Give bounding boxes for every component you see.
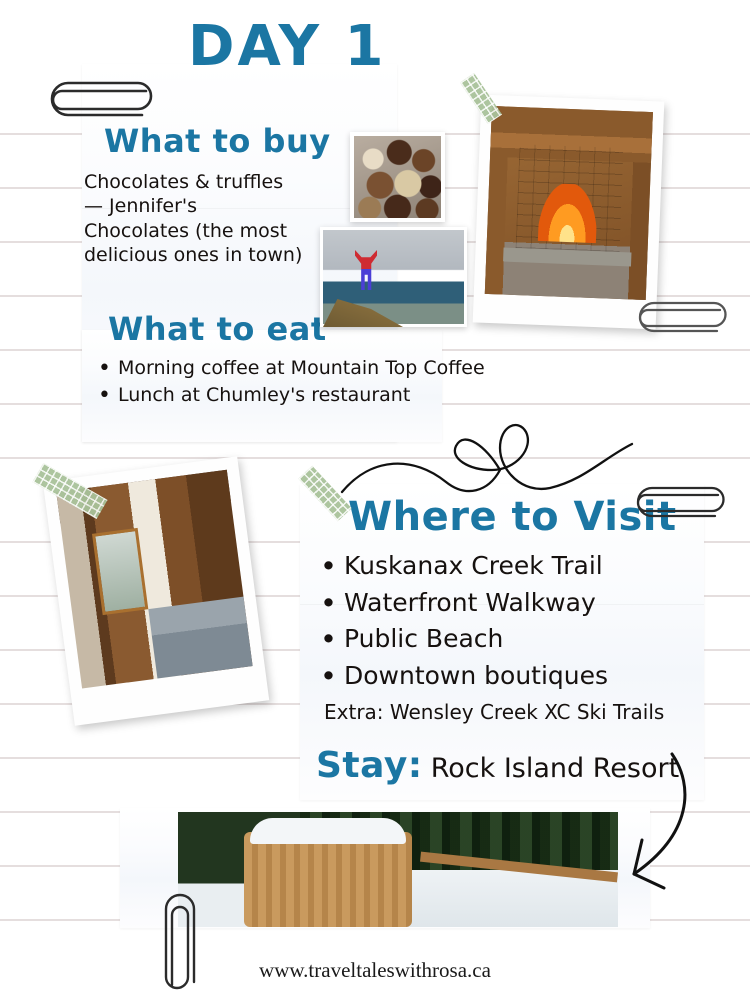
fireplace-flame	[538, 183, 598, 243]
fireplace-polaroid	[473, 95, 665, 330]
list-item: Kuskanax Creek Trail	[318, 548, 678, 585]
hot-tub-snow-cap	[250, 818, 406, 844]
chocolates-photo	[350, 132, 445, 222]
section-heading-what-to-buy: What to buy	[104, 122, 331, 160]
cabin-bed	[148, 597, 252, 679]
list-item: Downtown boutiques	[318, 658, 678, 695]
list-item: Waterfront Walkway	[318, 585, 678, 622]
where-to-visit-extra: Extra: Wensley Creek XC Ski Trails	[324, 700, 724, 726]
paperclip-icon-top-left	[42, 80, 154, 118]
footer-url[interactable]: www.traveltaleswithrosa.ca	[0, 958, 750, 983]
page-title: DAY 1	[188, 14, 386, 79]
list-item: Morning coffee at Mountain Top Coffee	[96, 355, 526, 382]
paperclip-icon-fireplace	[630, 300, 728, 334]
paperclip-icon-where-to-visit	[628, 485, 726, 519]
itinerary-page: DAY 1 What to buy Chocolates & truffles …	[0, 0, 750, 1000]
section-heading-what-to-eat: What to eat	[108, 310, 327, 348]
where-to-visit-list: Kuskanax Creek Trail Waterfront Walkway …	[318, 548, 678, 694]
curved-arrow-doodle	[600, 748, 720, 898]
what-to-buy-body: Chocolates & truffles — Jennifer's Choco…	[84, 170, 344, 267]
hot-tub-barrel	[244, 832, 412, 927]
list-item: Public Beach	[318, 621, 678, 658]
heart-swirl-doodle	[336, 396, 636, 506]
stay-label: Stay:	[316, 745, 423, 786]
